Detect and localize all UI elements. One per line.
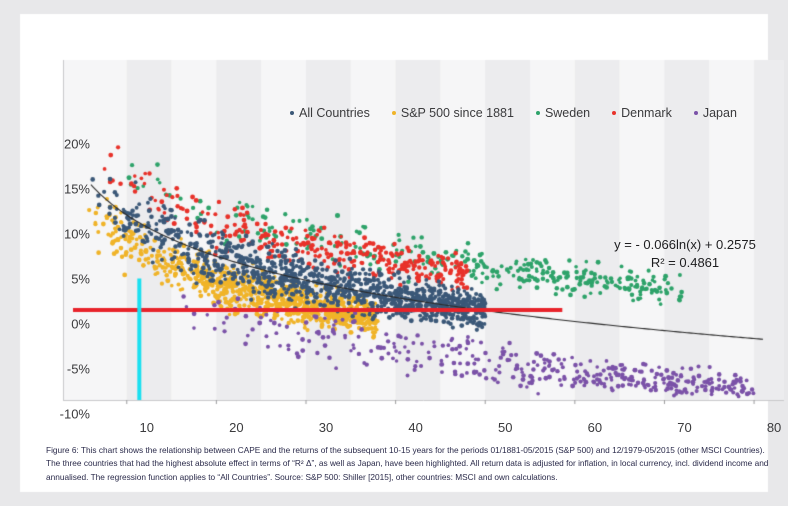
legend-item-all-countries[interactable]: All Countries: [290, 106, 370, 120]
x-axis-tick: 60: [588, 420, 602, 435]
legend-item-japan[interactable]: Japan: [694, 106, 737, 120]
caption-line-1: Figure 6: This chart shows the relations…: [46, 445, 722, 455]
chart-legend: All Countries S&P 500 since 1881 Sweden …: [290, 104, 780, 122]
y-axis-tick: 10%: [64, 227, 90, 242]
legend-swatch-sweden: [536, 111, 540, 115]
regression-annotation: y = - 0.066ln(x) + 0.2575 R² = 0.4861: [580, 236, 788, 271]
legend-swatch-denmark: [612, 111, 616, 115]
y-axis-tick: 0%: [71, 317, 90, 332]
legend-item-sp500[interactable]: S&P 500 since 1881: [392, 106, 514, 120]
x-axis-tick: 50: [498, 420, 512, 435]
y-axis-tick: 15%: [64, 182, 90, 197]
legend-label-japan: Japan: [703, 106, 737, 120]
x-axis-tick: 20: [229, 420, 243, 435]
legend-swatch-all-countries: [290, 111, 294, 115]
figure-caption: Figure 6: This chart shows the relations…: [46, 444, 778, 484]
x-axis-tick: 40: [408, 420, 422, 435]
y-axis-tick-labels: 20%15%10%5%0%-5%-10%: [42, 124, 90, 424]
legend-swatch-japan: [694, 111, 698, 115]
regression-r-squared: R² = 0.4861: [580, 254, 788, 272]
legend-item-sweden[interactable]: Sweden: [536, 106, 590, 120]
legend-label-denmark: Denmark: [621, 106, 672, 120]
x-axis-tick-labels: 1020304050607080: [20, 418, 788, 440]
legend-swatch-sp500: [392, 111, 396, 115]
regression-equation: y = - 0.066ln(x) + 0.2575: [580, 236, 788, 254]
x-axis-tick: 30: [319, 420, 333, 435]
y-axis-tick: 20%: [64, 137, 90, 152]
legend-item-denmark[interactable]: Denmark: [612, 106, 672, 120]
legend-label-sp500: S&P 500 since 1881: [401, 106, 514, 120]
x-axis-tick: 80: [767, 420, 781, 435]
y-axis-tick: -5%: [67, 362, 90, 377]
chart-card: Relationship between CAPE and average re…: [20, 14, 768, 492]
page-root: Relationship between CAPE and average re…: [0, 0, 788, 506]
legend-label-all-countries: All Countries: [299, 106, 370, 120]
legend-label-sweden: Sweden: [545, 106, 590, 120]
x-axis-tick: 10: [140, 420, 154, 435]
x-axis-tick: 70: [677, 420, 691, 435]
y-axis-tick: 5%: [71, 272, 90, 287]
